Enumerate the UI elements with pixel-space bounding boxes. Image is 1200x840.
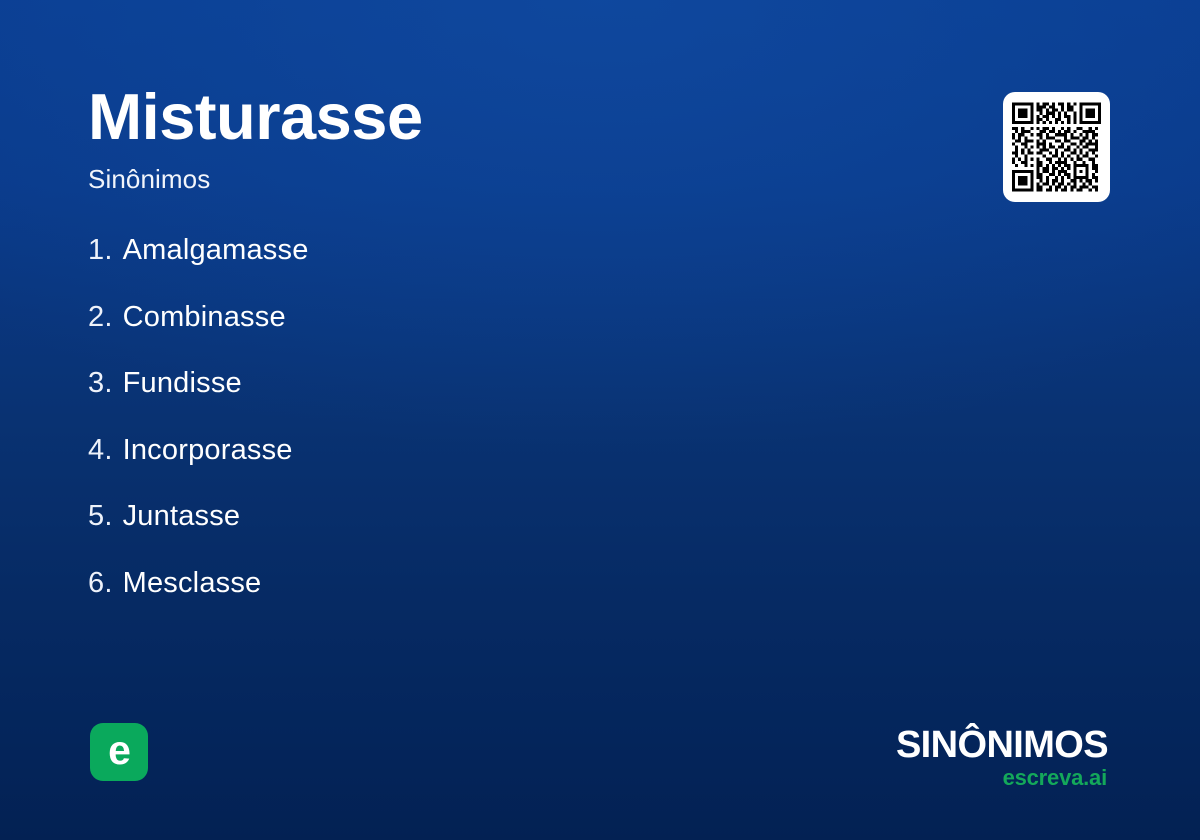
brand-logo: SINÔNIMOS escreva.ai [896,726,1108,789]
list-item-index: 6. [88,569,113,598]
qr-code-card[interactable] [1003,92,1110,202]
list-item: 4. Incorporasse [88,436,908,503]
list-item-word: Fundisse [123,369,242,398]
list-item-index: 5. [88,502,113,531]
qr-code-icon [1012,101,1101,193]
list-item: 2. Combinasse [88,303,908,370]
brand-tagline: escreva.ai [896,767,1107,789]
list-item-word: Mesclasse [123,569,262,598]
header: Misturasse Sinônimos [88,84,908,194]
list-item-index: 1. [88,236,113,265]
list-item: 5. Juntasse [88,502,908,569]
list-item-word: Juntasse [123,502,241,531]
list-item: 3. Fundisse [88,369,908,436]
brand-name: SINÔNIMOS [896,726,1108,764]
list-item-word: Combinasse [123,303,286,332]
list-item: 6. Mesclasse [88,569,908,636]
page-subtitle: Sinônimos [88,165,908,194]
list-item-index: 3. [88,369,113,398]
list-item-index: 2. [88,303,113,332]
synonym-card: Misturasse Sinônimos [0,0,1200,840]
list-item-word: Incorporasse [123,436,293,465]
page-title: Misturasse [88,84,908,149]
list-item-index: 4. [88,436,113,465]
escreva-app-icon: e [90,723,148,781]
escreva-app-icon-letter: e [108,730,130,771]
list-item-word: Amalgamasse [123,236,309,265]
list-item: 1. Amalgamasse [88,236,908,303]
synonyms-list: 1. Amalgamasse 2. Combinasse 3. Fundisse… [88,236,908,635]
